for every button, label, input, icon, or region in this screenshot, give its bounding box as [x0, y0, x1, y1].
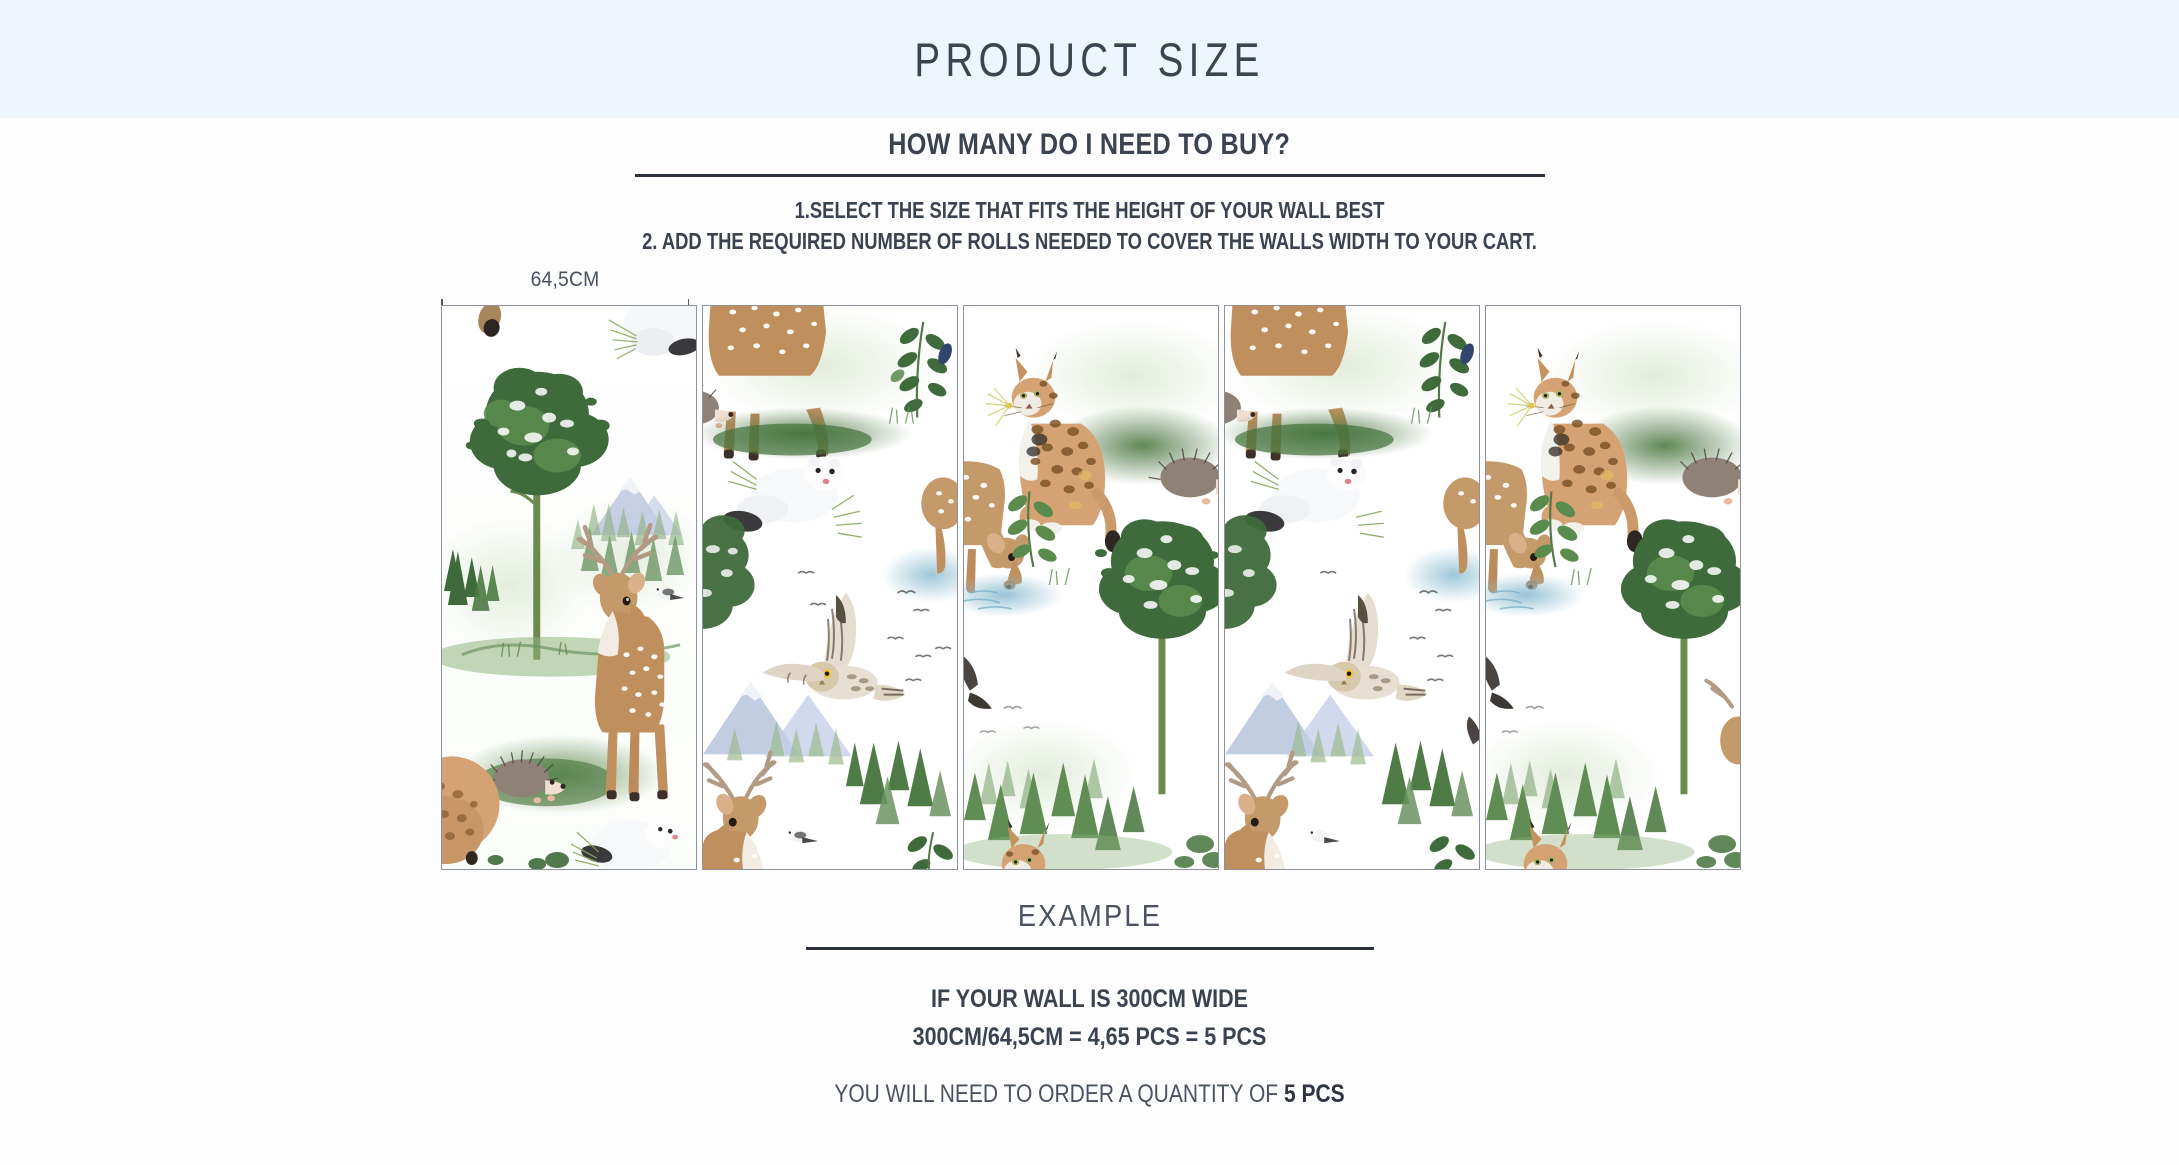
roll-width-label: 64,5CM — [451, 268, 679, 292]
instruction-step-1: 1.SELECT THE SIZE THAT FITS THE HEIGHT O… — [218, 195, 1961, 226]
example-order-quantity: YOU WILL NEED TO ORDER A QUANTITY OF 5 P… — [174, 1080, 2004, 1109]
example-section: EXAMPLE IF YOUR WALL IS 300CM WIDE 300CM… — [0, 898, 2179, 1109]
instructions-heading-wrap: HOW MANY DO I NEED TO BUY? — [0, 128, 2179, 162]
instruction-steps: 1.SELECT THE SIZE THAT FITS THE HEIGHT O… — [0, 195, 2179, 257]
wallpaper-roll-panel[interactable] — [1485, 305, 1741, 870]
instruction-step-2: 2. ADD THE REQUIRED NUMBER OF ROLLS NEED… — [218, 226, 1961, 257]
instructions-section: HOW MANY DO I NEED TO BUY? 1.SELECT THE … — [0, 128, 2179, 257]
heading-divider — [635, 174, 1545, 177]
header-band: PRODUCT SIZE — [0, 0, 2179, 118]
page-title: PRODUCT SIZE — [914, 32, 1264, 87]
wallpaper-roll-panel[interactable] — [702, 305, 958, 870]
wallpaper-roll-panel[interactable] — [1224, 305, 1480, 870]
example-heading-wrap: EXAMPLE — [0, 898, 2179, 934]
wallpaper-roll-panel[interactable] — [441, 305, 697, 870]
example-order-prefix: YOU WILL NEED TO ORDER A QUANTITY OF — [834, 1080, 1284, 1108]
example-divider — [806, 947, 1374, 950]
product-size-infographic: PRODUCT SIZE HOW MANY DO I NEED TO BUY? … — [0, 0, 2179, 1165]
example-heading: EXAMPLE — [1017, 898, 1161, 934]
wallpaper-roll-strip — [441, 305, 1735, 870]
example-body: IF YOUR WALL IS 300CM WIDE 300CM/64,5CM … — [0, 980, 2179, 1109]
instructions-heading: HOW MANY DO I NEED TO BUY? — [889, 128, 1291, 162]
example-order-value: 5 PCS — [1284, 1080, 1345, 1108]
example-wall-width: IF YOUR WALL IS 300CM WIDE — [153, 980, 2027, 1018]
example-calculation: 300CM/64,5CM = 4,65 PCS = 5 PCS — [153, 1018, 2027, 1056]
wallpaper-roll-panel[interactable] — [963, 305, 1219, 870]
